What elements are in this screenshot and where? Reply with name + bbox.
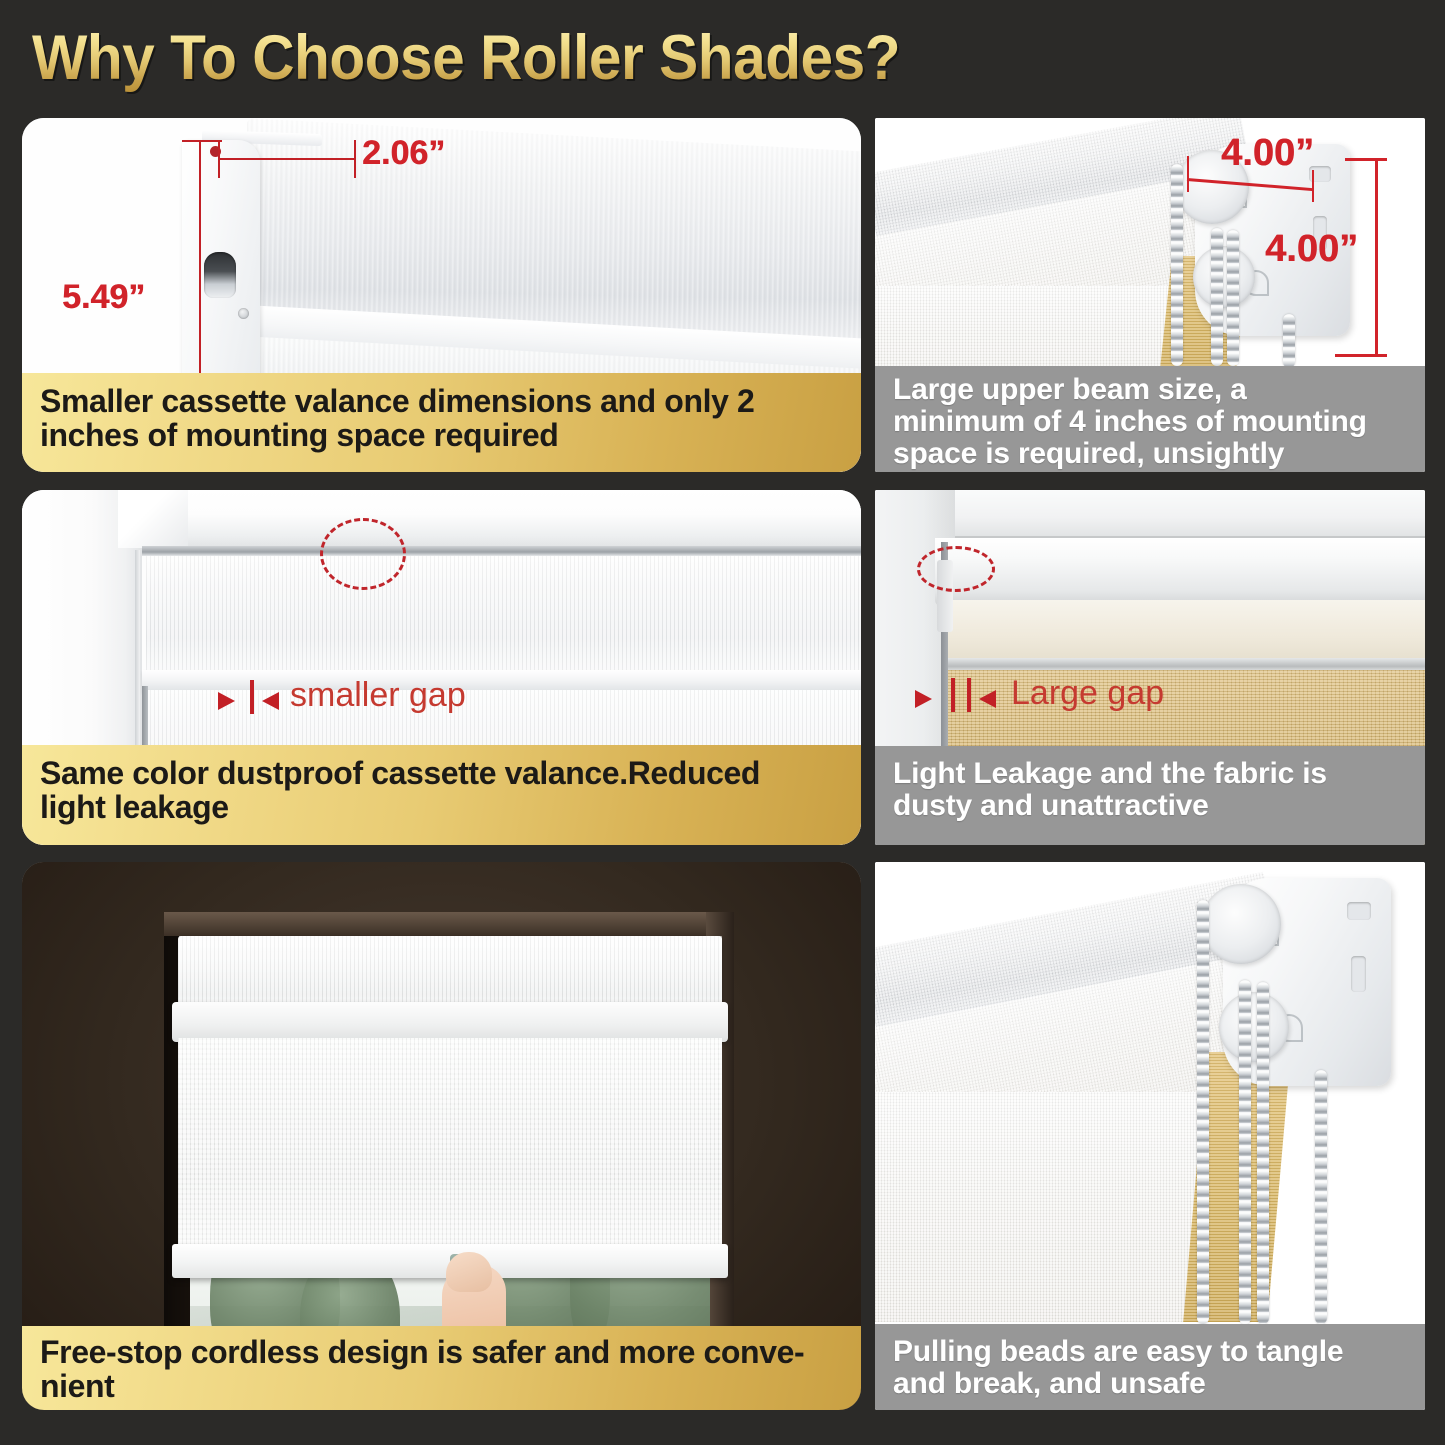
dimension-width-label-2: 4.00”	[1221, 132, 1314, 175]
panel-2-caption-line-3: space is required, unsightly	[893, 438, 1367, 470]
large-gap-marker-2	[967, 678, 971, 712]
panel-1-caption-line-1: Smaller cassette valance dimensions and …	[40, 385, 754, 419]
panel-5-caption: Free-stop cordless design is safer and m…	[22, 1326, 861, 1410]
gap-arrow-left-icon	[262, 692, 279, 710]
panel-6-caption: Pulling beads are easy to tangle and bre…	[875, 1324, 1425, 1410]
panel-4-caption-line-2: dusty and unattractive	[893, 790, 1327, 822]
gap-marker-line	[250, 680, 254, 714]
panel-2-caption-line-1: Large upper beam size, a	[893, 374, 1367, 406]
panel-4-caption: Light Leakage and the fabric is dusty an…	[875, 746, 1425, 845]
bead-chain-left-2	[1197, 900, 1209, 1324]
highlight-circle-icon-2	[917, 546, 995, 592]
dimension-height-label: 5.49”	[62, 278, 145, 317]
dim2-width-tick-left	[1187, 156, 1189, 192]
window-head-trim	[118, 490, 861, 548]
dimension-height-label-2: 4.00”	[1265, 228, 1358, 271]
panel-1-caption-line-2: inches of mounting space required	[40, 419, 754, 453]
dim2-height-line	[1375, 158, 1378, 356]
panel-3-caption-line-1: Same color dustproof cassette valance.Re…	[40, 757, 760, 791]
cassette-rail-top	[142, 546, 861, 556]
panel-5-caption-line-2: nient	[40, 1370, 804, 1404]
shade-upper-section	[146, 556, 861, 673]
bracket-2-notch-mid	[1351, 956, 1366, 992]
dim-height-tick-top	[182, 140, 222, 142]
bracket-2-notch-top	[1347, 902, 1371, 920]
panel-1-caption: Smaller cassette valance dimensions and …	[22, 373, 861, 472]
panel-5: Free-stop cordless design is safer and m…	[22, 862, 861, 1410]
bead-chain-mid-b	[1257, 982, 1269, 1324]
large-gap-arrow-right-icon	[915, 690, 932, 708]
gap-label-small: smaller gap	[290, 676, 466, 715]
panel-3-caption-line-2: light leakage	[40, 791, 760, 825]
panel-5-caption-line-1: Free-stop cordless design is safer and m…	[40, 1336, 804, 1370]
panel-4-caption-line-1: Light Leakage and the fabric is	[893, 758, 1327, 790]
panel-2: 4.00” 4.00” Large upper beam size, a min…	[875, 118, 1425, 472]
dim2-height-tick-bottom	[1335, 354, 1387, 357]
page-title: Why To Choose Roller Shades?	[32, 22, 900, 94]
bead-chain-mid-2	[1227, 230, 1239, 366]
dimension-width-label: 2.06”	[362, 134, 445, 173]
gap-label-large: Large gap	[1011, 674, 1164, 713]
lower-rail	[941, 658, 1425, 670]
white-fabric-band	[947, 600, 1425, 662]
roller-wheel-top-2	[1201, 884, 1281, 964]
large-gap-arrow-left-icon	[979, 690, 996, 708]
panel-2-caption-line-2: minimum of 4 inches of mounting	[893, 406, 1367, 438]
dim-width-line	[218, 158, 356, 160]
panel-2-caption: Large upper beam size, a minimum of 4 in…	[875, 366, 1425, 472]
roller-wheel-bottom	[1193, 246, 1255, 308]
bead-chain-left	[1171, 164, 1183, 366]
shade-cassette-lip	[172, 1002, 728, 1042]
panel-3: smaller gap Same color dustproof cassett…	[22, 490, 861, 845]
screw-icon	[238, 308, 249, 319]
valance-beam	[935, 538, 1425, 606]
panel-6: Pulling beads are easy to tangle and bre…	[875, 862, 1425, 1410]
white-fabric-front-2	[875, 1092, 1205, 1322]
bead-chain-mid-a	[1239, 980, 1251, 1324]
roller-wheel-bottom-2	[1219, 992, 1289, 1062]
panel-4: Large gap Light Leakage and the fabric i…	[875, 490, 1425, 845]
shade-fabric-body	[178, 1038, 722, 1250]
panel-6-caption-line-1: Pulling beads are easy to tangle	[893, 1336, 1343, 1368]
window-recess-top	[164, 912, 734, 936]
bead-chain-right	[1283, 314, 1295, 368]
header: Why To Choose Roller Shades?	[0, 0, 1445, 110]
ceiling-strip	[875, 490, 1425, 536]
panel-1: 2.06” 5.49” Smaller cassette valance dim…	[22, 118, 861, 472]
large-gap-marker-1	[951, 678, 955, 712]
keyhole-slot-icon	[204, 252, 236, 298]
gap-arrow-right-icon	[218, 692, 235, 710]
highlight-circle-icon	[320, 518, 406, 590]
panel-3-caption: Same color dustproof cassette valance.Re…	[22, 745, 861, 845]
bead-chain-right-2	[1315, 1070, 1327, 1324]
dim2-height-tick-top	[1345, 158, 1387, 161]
window-head-bevel	[118, 490, 188, 548]
bead-chain-mid	[1211, 228, 1223, 366]
panel-6-caption-line-2: and break, and unsafe	[893, 1368, 1343, 1400]
